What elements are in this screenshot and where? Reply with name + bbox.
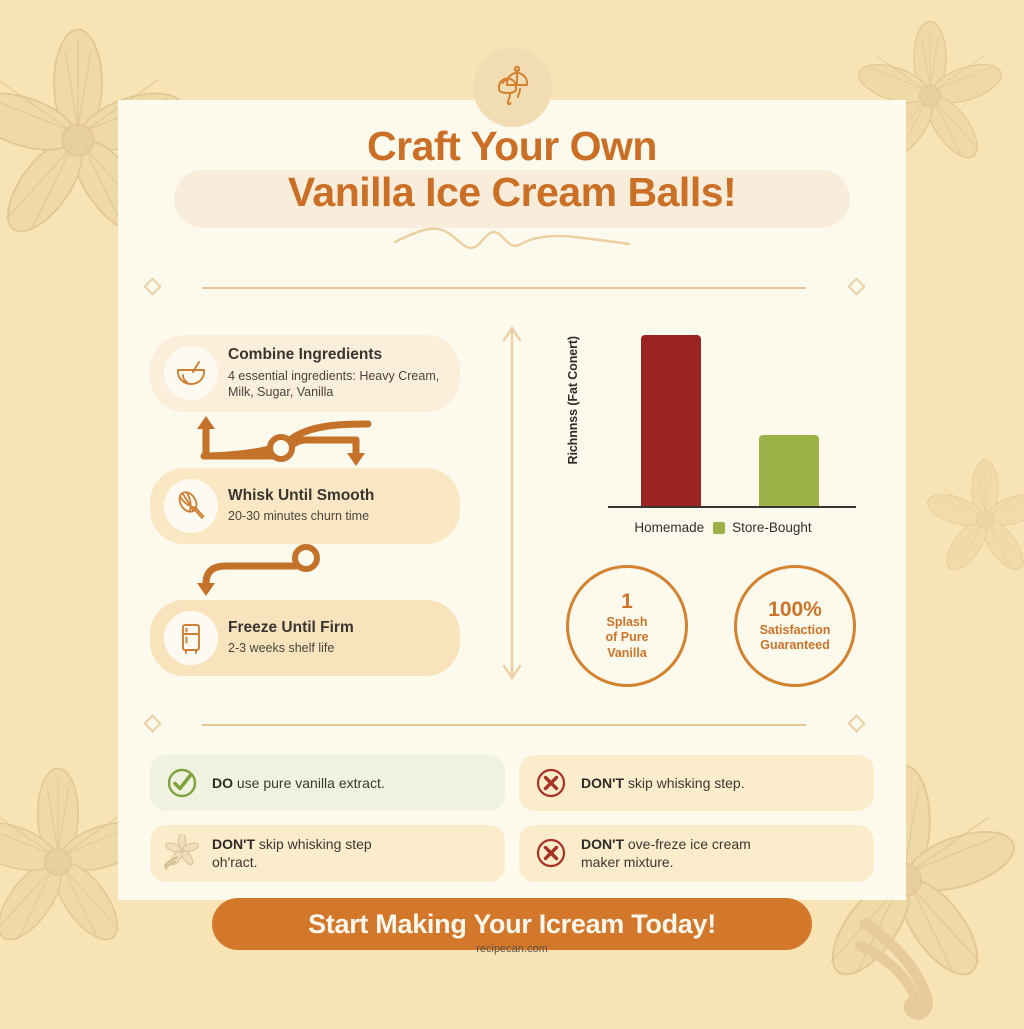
- step-description: 20-30 minutes churn time: [228, 508, 446, 525]
- tip-body: skip whisking step.: [624, 775, 745, 791]
- stat-label-line: Vanilla: [605, 646, 648, 661]
- vanilla-flower-icon: [164, 835, 200, 871]
- tip-lead: DO: [212, 775, 233, 791]
- x-circle-icon: [533, 765, 569, 801]
- chart-x-axis: [608, 506, 856, 508]
- page-title-line-1: Craft Your Own: [118, 124, 906, 170]
- brand-logo-badge: [473, 48, 552, 127]
- whisk-icon: [164, 479, 218, 533]
- header: Craft Your Own Vanilla Ice Cream Balls!: [118, 124, 906, 256]
- tip-row-dont-skip-whisking-alt[interactable]: DON'T skip whisking step oh'ract.: [150, 825, 505, 882]
- tip-lead: DON'T: [581, 836, 624, 852]
- tip-row-dont-over-freeze[interactable]: DON'T ove-freze ice cream maker mixture.: [519, 825, 874, 882]
- tip-line-1: DON'T ove-freze ice cream: [581, 836, 751, 852]
- tip-lead: DON'T: [581, 775, 624, 791]
- page-title-line-2: Vanilla Ice Cream Balls!: [118, 170, 906, 216]
- steps-list: Combine Ingredients 4 essential ingredie…: [150, 335, 460, 676]
- tip-text: DON'T skip whisking step.: [581, 774, 745, 792]
- check-circle-icon: [164, 765, 200, 801]
- step-description: 2-3 weeks shelf life: [228, 640, 446, 657]
- stat-value: 1: [621, 591, 633, 613]
- divider-rule-top: [202, 287, 806, 289]
- legend-item-store-bought: Store-Bought: [713, 520, 812, 535]
- stat-badge-satisfaction: 100% Satisfaction Guaranteed: [734, 565, 856, 687]
- stat-label-line: Guaranteed: [760, 638, 831, 653]
- diamond-ornament-top-right: [847, 277, 865, 295]
- legend-label: Store-Bought: [732, 520, 812, 535]
- stat-label-line: of Pure: [605, 630, 648, 645]
- tip-body: skip whisking step: [255, 836, 372, 852]
- vertical-divider-arrow-icon: [500, 318, 524, 693]
- tip-text: DON'T ove-freze ice cream maker mixture.: [581, 835, 751, 872]
- stat-label: Splash of Pure Vanilla: [605, 615, 648, 661]
- step-connector-1: [150, 412, 460, 468]
- chart-legend: Homemade Store-Bought: [566, 520, 856, 535]
- step-title: Whisk Until Smooth: [228, 487, 446, 506]
- squiggle-underline-icon: [118, 222, 906, 256]
- step-card-combine-ingredients[interactable]: Combine Ingredients 4 essential ingredie…: [150, 335, 460, 412]
- richness-bar-chart: Richnnss (Fat Conert) Homemade Store-Bou…: [566, 318, 856, 535]
- stat-label-line: Splash: [605, 615, 648, 630]
- tips-grid: DO use pure vanilla extract. DON'T skip …: [150, 755, 874, 882]
- tip-body: ove-freze ice cream: [624, 836, 751, 852]
- step-card-whisk-until-smooth[interactable]: Whisk Until Smooth 20-30 minutes churn t…: [150, 468, 460, 544]
- diamond-ornament-bottom-right: [847, 714, 865, 732]
- mixing-bowl-icon: [164, 346, 218, 400]
- chart-plot-area: Richnnss (Fat Conert): [566, 318, 856, 508]
- diamond-ornament-bottom-left: [143, 714, 161, 732]
- stat-badge-vanilla-splash: 1 Splash of Pure Vanilla: [566, 565, 688, 687]
- freezer-icon: [164, 611, 218, 665]
- tip-line-1: DON'T skip whisking step: [212, 836, 372, 852]
- divider-rule-bottom: [202, 724, 806, 726]
- tip-text: DO use pure vanilla extract.: [212, 774, 385, 792]
- legend-label: Homemade: [634, 520, 704, 535]
- stat-label-line: Satisfaction: [760, 623, 831, 638]
- step-title: Combine Ingredients: [228, 346, 446, 365]
- tip-line-2: maker mixture.: [581, 854, 674, 870]
- stat-label: Satisfaction Guaranteed: [760, 623, 831, 654]
- tip-text: DON'T skip whisking step oh'ract.: [212, 835, 372, 872]
- x-circle-icon: [533, 835, 569, 871]
- ice-cream-scoop-icon: [489, 61, 537, 114]
- stat-badges: 1 Splash of Pure Vanilla 100% Satisfacti…: [566, 565, 856, 687]
- bar-homemade: [641, 335, 701, 508]
- tip-lead: DON'T: [212, 836, 255, 852]
- tip-line-2: oh'ract.: [212, 854, 257, 870]
- stat-value: 100%: [768, 599, 822, 621]
- tip-row-dont-skip-whisking[interactable]: DON'T skip whisking step.: [519, 755, 874, 811]
- tip-row-do-pure-vanilla[interactable]: DO use pure vanilla extract.: [150, 755, 505, 811]
- legend-swatch-store-bought: [713, 522, 725, 534]
- step-card-freeze-until-firm[interactable]: Freeze Until Firm 2-3 weeks shelf life: [150, 600, 460, 676]
- diamond-ornament-top-left: [143, 277, 161, 295]
- tip-body: use pure vanilla extract.: [233, 775, 385, 791]
- chart-y-axis-label: Richnnss (Fat Conert): [566, 336, 580, 464]
- chart-bars: [612, 318, 848, 508]
- step-title: Freeze Until Firm: [228, 619, 446, 638]
- footer-url: recipecan.com: [0, 943, 1024, 955]
- bar-store-bought: [759, 435, 819, 508]
- step-connector-2: [150, 544, 460, 600]
- step-description: 4 essential ingredients: Heavy Cream, Mi…: [228, 368, 446, 401]
- legend-item-homemade: Homemade: [634, 520, 704, 535]
